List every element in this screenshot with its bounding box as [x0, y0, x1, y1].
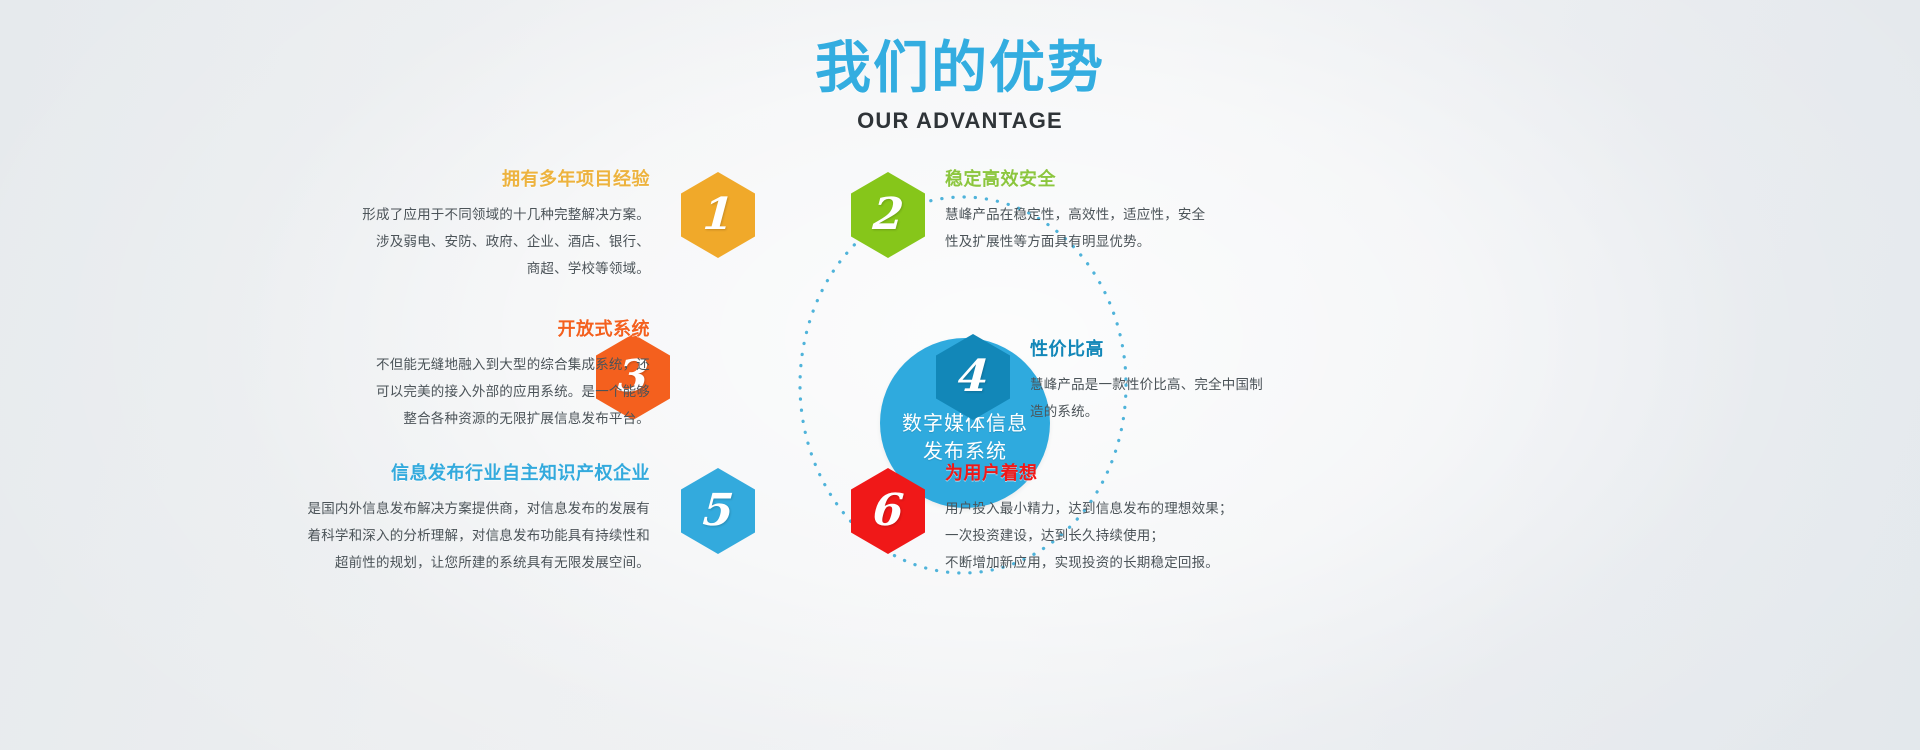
advantage-3-heading: 开放式系统 [190, 318, 650, 341]
advantage-6-line-1: 用户投入最小精力，达到信息发布的理想效果； [945, 495, 1375, 522]
advantage-5-line-3: 超前性的规划，让您所建的系统具有无限发展空间。 [180, 549, 650, 576]
advantage-6-line-2: 一次投资建设，达到长久持续使用； [945, 522, 1375, 549]
advantage-5-line-1: 是国内外信息发布解决方案提供商，对信息发布的发展有 [180, 495, 650, 522]
advantage-3-line-2: 可以完美的接入外部的应用系统。是一个能够 [190, 378, 650, 405]
page-title-en: OUR ADVANTAGE [0, 108, 1920, 134]
advantage-2-line-2: 性及扩展性等方面具有明显优势。 [945, 228, 1365, 255]
advantage-3-line-1: 不但能无缝地融入到大型的综合集成系统，还 [190, 351, 650, 378]
advantage-6-line-3: 不断增加新应用，实现投资的长期稳定回报。 [945, 549, 1375, 576]
hex-badge-4-number: 4 [956, 351, 990, 402]
advantage-infographic: 我们的优势 OUR ADVANTAGE 慧峰 数字媒体信息 发布系统 1 2 3… [0, 0, 1920, 750]
advantage-6-heading: 为用户着想 [945, 462, 1375, 485]
advantage-5-heading: 信息发布行业自主知识产权企业 [180, 462, 650, 485]
advantage-block-5: 信息发布行业自主知识产权企业 是国内外信息发布解决方案提供商，对信息发布的发展有… [180, 462, 650, 576]
advantage-block-6: 为用户着想 用户投入最小精力，达到信息发布的理想效果； 一次投资建设，达到长久持… [945, 462, 1375, 576]
advantage-1-line-1: 形成了应用于不同领域的十几种完整解决方案。 [260, 201, 650, 228]
advantage-block-3: 开放式系统 不但能无缝地融入到大型的综合集成系统，还 可以完美的接入外部的应用系… [190, 318, 650, 432]
advantage-block-2: 稳定高效安全 慧峰产品在稳定性，高效性，适应性，安全 性及扩展性等方面具有明显优… [945, 168, 1365, 255]
hex-badge-6-number: 6 [871, 485, 905, 536]
advantage-4-line-2: 造的系统。 [1030, 398, 1450, 425]
advantage-1-line-2: 涉及弱电、安防、政府、企业、酒店、银行、 [260, 228, 650, 255]
hex-badge-2-number: 2 [871, 189, 905, 240]
page-header: 我们的优势 OUR ADVANTAGE [0, 36, 1920, 134]
advantage-5-line-2: 着科学和深入的分析理解，对信息发布功能具有持续性和 [180, 522, 650, 549]
advantage-3-line-3: 整合各种资源的无限扩展信息发布平台。 [190, 405, 650, 432]
advantage-2-heading: 稳定高效安全 [945, 168, 1365, 191]
advantage-1-heading: 拥有多年项目经验 [260, 168, 650, 191]
hex-badge-1-number: 1 [701, 189, 735, 240]
advantage-4-line-1: 慧峰产品是一款性价比高、完全中国制 [1030, 371, 1450, 398]
advantage-block-1: 拥有多年项目经验 形成了应用于不同领域的十几种完整解决方案。 涉及弱电、安防、政… [260, 168, 650, 282]
hex-badge-5-number: 5 [701, 485, 735, 536]
advantage-4-heading: 性价比高 [1030, 338, 1450, 361]
advantage-block-4: 性价比高 慧峰产品是一款性价比高、完全中国制 造的系统。 [1030, 338, 1450, 425]
advantage-2-line-1: 慧峰产品在稳定性，高效性，适应性，安全 [945, 201, 1365, 228]
advantage-1-line-3: 商超、学校等领域。 [260, 255, 650, 282]
page-title-cn: 我们的优势 [0, 36, 1920, 100]
